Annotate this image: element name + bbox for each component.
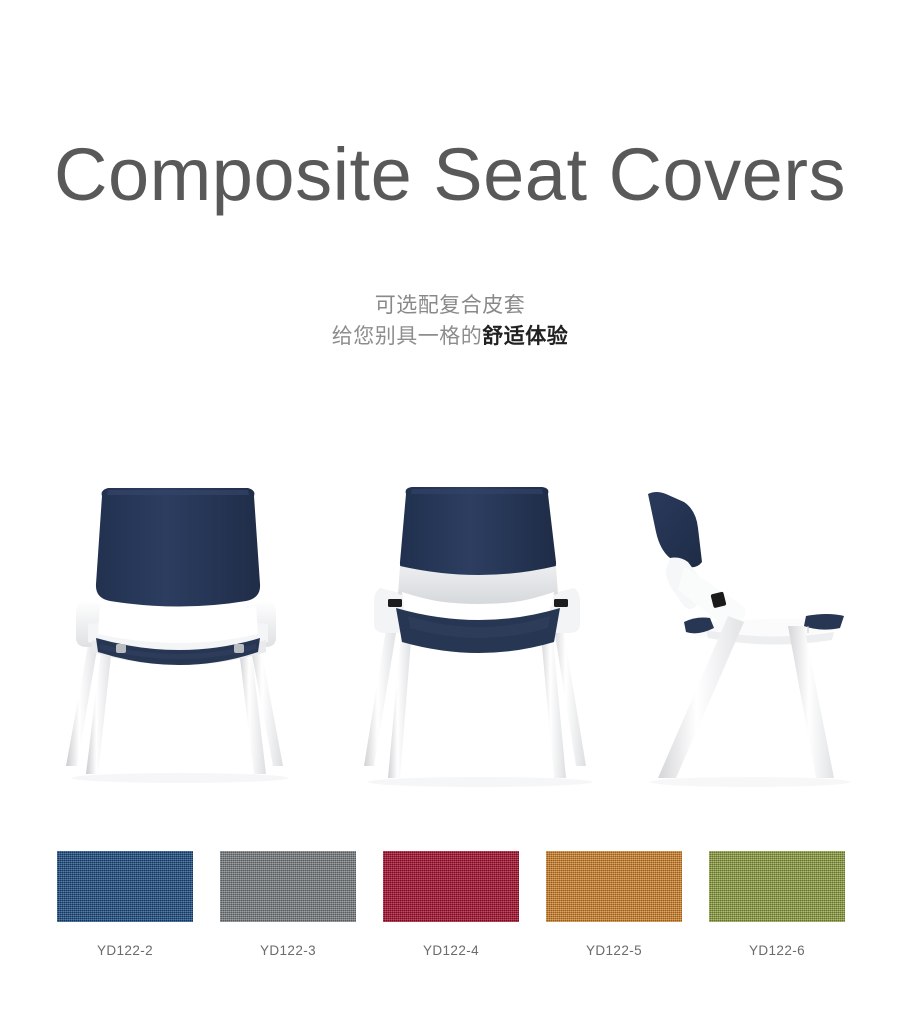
swatch-gray-label: YD122-3 — [220, 942, 356, 960]
swatch-gray[interactable]: YD122-3 — [220, 851, 356, 960]
chair-front-view-svg — [330, 466, 630, 796]
swatch-orange-chip[interactable] — [546, 851, 682, 922]
swatch-olive-label: YD122-6 — [709, 942, 845, 960]
chair-side-view-image — [640, 466, 875, 796]
chair-front-view-image — [330, 466, 630, 796]
subtitle-line-2: 给您别具一格的舒适体验 — [0, 321, 900, 352]
swatch-crimson-label: YD122-4 — [383, 942, 519, 960]
swatch-orange-label: YD122-5 — [546, 942, 682, 960]
swatch-blue-label: YD122-2 — [57, 942, 193, 960]
fabric-swatch-row: YD122-2 YD122-3 YD122-4 YD122-5 YD122-6 — [0, 851, 900, 960]
swatch-gray-chip[interactable] — [220, 851, 356, 922]
swatch-blue-chip[interactable] — [57, 851, 193, 922]
swatch-olive-chip[interactable] — [709, 851, 845, 922]
swatch-blue[interactable]: YD122-2 — [57, 851, 193, 960]
subtitle-line-2-strong: 舒适体验 — [482, 325, 568, 348]
swatch-orange[interactable]: YD122-5 — [546, 851, 682, 960]
chair-side-view-svg — [640, 466, 875, 796]
subtitle-block: 可选配复合皮套 给您别具一格的舒适体验 — [0, 290, 900, 352]
swatch-crimson-chip[interactable] — [383, 851, 519, 922]
swatch-olive[interactable]: YD122-6 — [709, 851, 845, 960]
subtitle-line-2-normal: 给您别具一格的 — [332, 325, 483, 348]
chair-gallery — [0, 466, 900, 796]
chair-rear-view-image — [30, 466, 330, 796]
subtitle-line-1: 可选配复合皮套 — [0, 290, 900, 321]
chair-rear-view-svg — [30, 466, 330, 796]
page-title: Composite Seat Covers — [0, 132, 900, 218]
swatch-crimson[interactable]: YD122-4 — [383, 851, 519, 960]
